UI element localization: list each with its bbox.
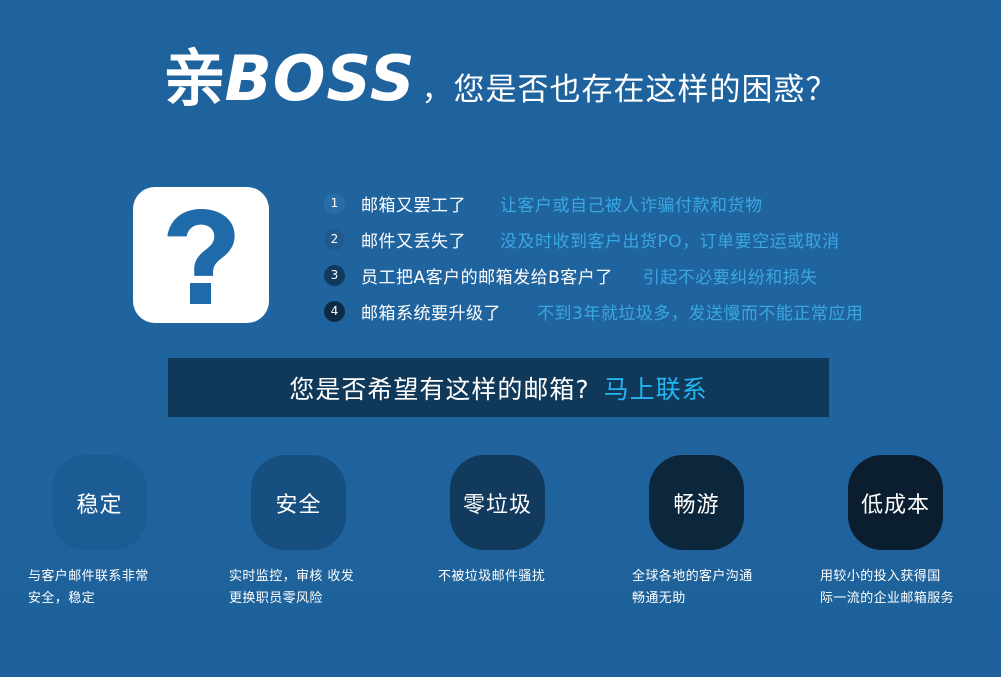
page-title: 亲BOSS，您是否也存在这样的困惑？ bbox=[0, 48, 1001, 110]
problem-number-badge: 3 bbox=[324, 265, 345, 286]
problem-detail: 让客户或自己被人诈骗付款和货物 bbox=[500, 191, 763, 216]
feature-item-global: 畅游 全球各地的客户沟通 畅通无助 bbox=[649, 455, 849, 610]
problem-number-badge: 2 bbox=[324, 229, 345, 250]
feature-caption: 用较小的投入获得国 际一流的企业邮箱服务 bbox=[820, 566, 1001, 610]
problem-title: 邮箱系统要升级了 bbox=[361, 299, 501, 324]
problem-title: 邮件又丢失了 bbox=[361, 227, 466, 252]
cta-banner: 您是否希望有这样的邮箱? 马上联系 bbox=[168, 358, 829, 417]
question-mark-card bbox=[133, 187, 269, 323]
problem-number-badge: 1 bbox=[324, 193, 345, 214]
feature-caption: 与客户邮件联系非常 安全，稳定 bbox=[28, 566, 252, 610]
feature-badge: 畅游 bbox=[649, 455, 744, 550]
feature-badge: 安全 bbox=[251, 455, 346, 550]
problem-row: 1 邮箱又罢工了 让客户或自己被人诈骗付款和货物 bbox=[324, 186, 924, 221]
problem-detail: 不到3年就垃圾多，发送慢而不能正常应用 bbox=[537, 299, 863, 324]
feature-item-low-cost: 低成本 用较小的投入获得国 际一流的企业邮箱服务 bbox=[848, 455, 1001, 610]
brand-title: 亲BOSS bbox=[163, 42, 415, 115]
feature-list: 稳定 与客户邮件联系非常 安全，稳定 安全 实时监控，审核 收发 更换职员零风险… bbox=[0, 455, 1001, 655]
feature-caption: 不被垃圾邮件骚扰 bbox=[438, 566, 650, 588]
question-mark-icon bbox=[133, 187, 269, 323]
problem-title: 员工把A客户的邮箱发给B客户了 bbox=[361, 263, 613, 288]
cta-question: 您是否希望有这样的邮箱? bbox=[289, 370, 589, 406]
problem-number-badge: 4 bbox=[324, 301, 345, 322]
problem-list: 1 邮箱又罢工了 让客户或自己被人诈骗付款和货物 2 邮件又丢失了 没及时收到客… bbox=[324, 186, 924, 330]
feature-caption: 实时监控，审核 收发 更换职员零风险 bbox=[229, 566, 451, 610]
feature-item-secure: 安全 实时监控，审核 收发 更换职员零风险 bbox=[251, 455, 451, 610]
problem-row: 4 邮箱系统要升级了 不到3年就垃圾多，发送慢而不能正常应用 bbox=[324, 294, 924, 329]
problem-detail: 没及时收到客户出货PO，订单要空运或取消 bbox=[500, 227, 840, 252]
feature-badge: 稳定 bbox=[52, 455, 147, 550]
headline-subtitle: ，您是否也存在这样的困惑？ bbox=[422, 72, 838, 108]
feature-badge: 低成本 bbox=[848, 455, 943, 550]
feature-badge: 零垃圾 bbox=[450, 455, 545, 550]
problem-detail: 引起不必要纠纷和损失 bbox=[643, 263, 818, 288]
contact-now-link[interactable]: 马上联系 bbox=[604, 370, 708, 406]
problem-row: 3 员工把A客户的邮箱发给B客户了 引起不必要纠纷和损失 bbox=[324, 258, 924, 293]
feature-caption: 全球各地的客户沟通 畅通无助 bbox=[632, 566, 849, 610]
problem-title: 邮箱又罢工了 bbox=[361, 191, 466, 216]
feature-item-zero-spam: 零垃圾 不被垃圾邮件骚扰 bbox=[450, 455, 650, 588]
problem-row: 2 邮件又丢失了 没及时收到客户出货PO，订单要空运或取消 bbox=[324, 222, 924, 257]
feature-item-stable: 稳定 与客户邮件联系非常 安全，稳定 bbox=[52, 455, 252, 610]
brand-title-latin: BOSS bbox=[224, 42, 415, 115]
brand-title-cn: 亲 bbox=[163, 42, 224, 115]
promo-page: 亲BOSS，您是否也存在这样的困惑？ 1 邮箱又罢工了 让客户或自己被人诈骗付款… bbox=[0, 0, 1001, 677]
